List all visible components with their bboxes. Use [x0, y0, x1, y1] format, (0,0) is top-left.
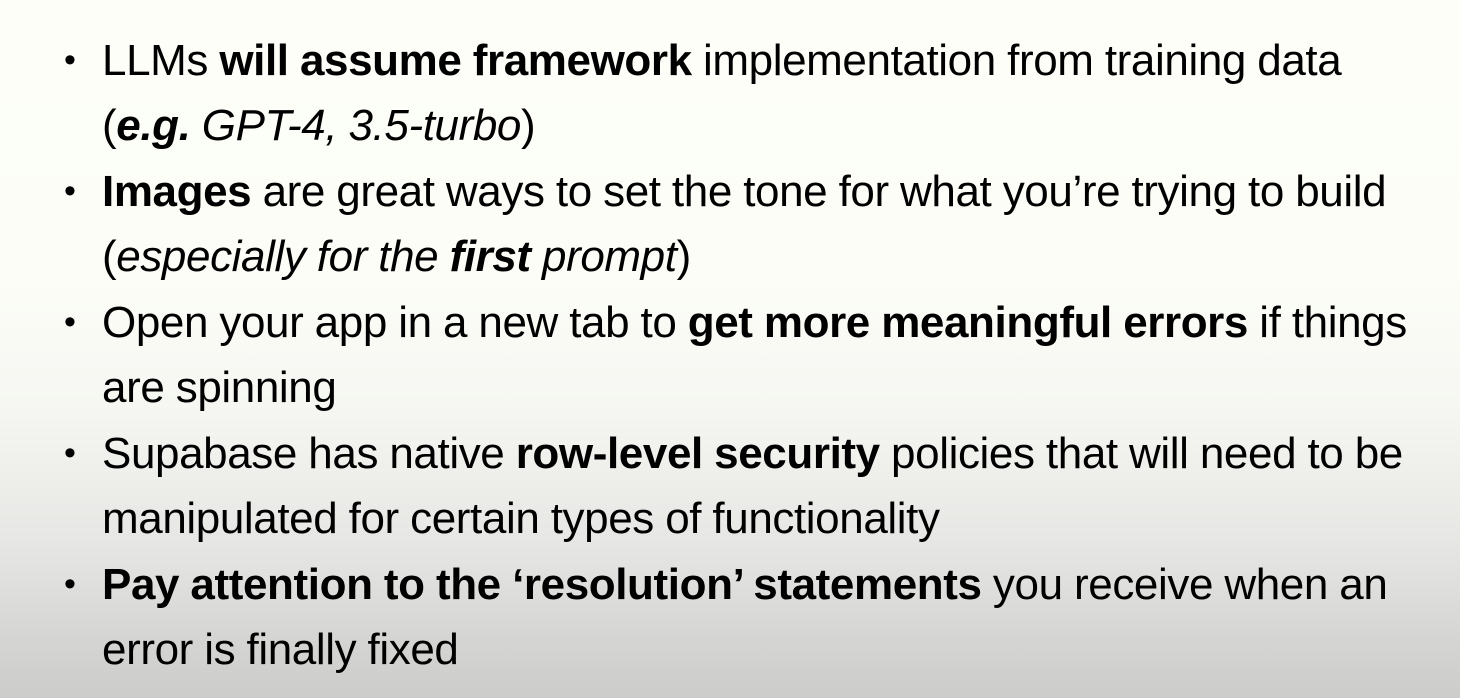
text-segment: first [450, 232, 531, 281]
bullet-point-icon: • [64, 28, 82, 93]
text-segment: LLMs [102, 36, 219, 85]
slide-canvas: •LLMs will assume framework implementati… [0, 0, 1460, 698]
text-segment: especially for the [116, 232, 449, 281]
text-segment: Supabase has native [102, 429, 516, 478]
bullet-point-icon: • [64, 421, 82, 486]
bullet-text: Open your app in a new tab to get more m… [102, 290, 1440, 420]
text-segment: Open your app in a new tab to [102, 298, 688, 347]
text-segment: e.g. [116, 101, 190, 150]
text-segment: GPT-4, 3.5-turbo [190, 101, 521, 150]
bullet-text: LLMs will assume framework implementatio… [102, 28, 1440, 158]
text-segment: will assume framework [219, 36, 691, 85]
text-segment: ) [677, 232, 691, 281]
bullet-resolution-statements: •Pay attention to the ‘resolution’ state… [56, 552, 1440, 682]
bullet-point-icon: • [64, 552, 82, 617]
text-segment: row-level security [516, 429, 880, 478]
bullet-open-new-tab: •Open your app in a new tab to get more … [56, 290, 1440, 420]
bullet-list: •LLMs will assume framework implementati… [56, 28, 1440, 682]
text-segment: ) [521, 101, 535, 150]
bullet-text: Images are great ways to set the tone fo… [102, 159, 1440, 289]
bullet-images-tone: •Images are great ways to set the tone f… [56, 159, 1440, 289]
text-segment: Pay attention to the ‘resolution’ statem… [102, 560, 982, 609]
text-segment: prompt [531, 232, 677, 281]
bullet-point-icon: • [64, 290, 82, 355]
text-segment: Images [102, 167, 251, 216]
bullet-supabase-rls: •Supabase has native row-level security … [56, 421, 1440, 551]
bullet-text: Supabase has native row-level security p… [102, 421, 1440, 551]
bullet-llms-framework: •LLMs will assume framework implementati… [56, 28, 1440, 158]
text-segment: get more meaningful errors [688, 298, 1248, 347]
bullet-point-icon: • [64, 159, 82, 224]
bullet-text: Pay attention to the ‘resolution’ statem… [102, 552, 1440, 682]
